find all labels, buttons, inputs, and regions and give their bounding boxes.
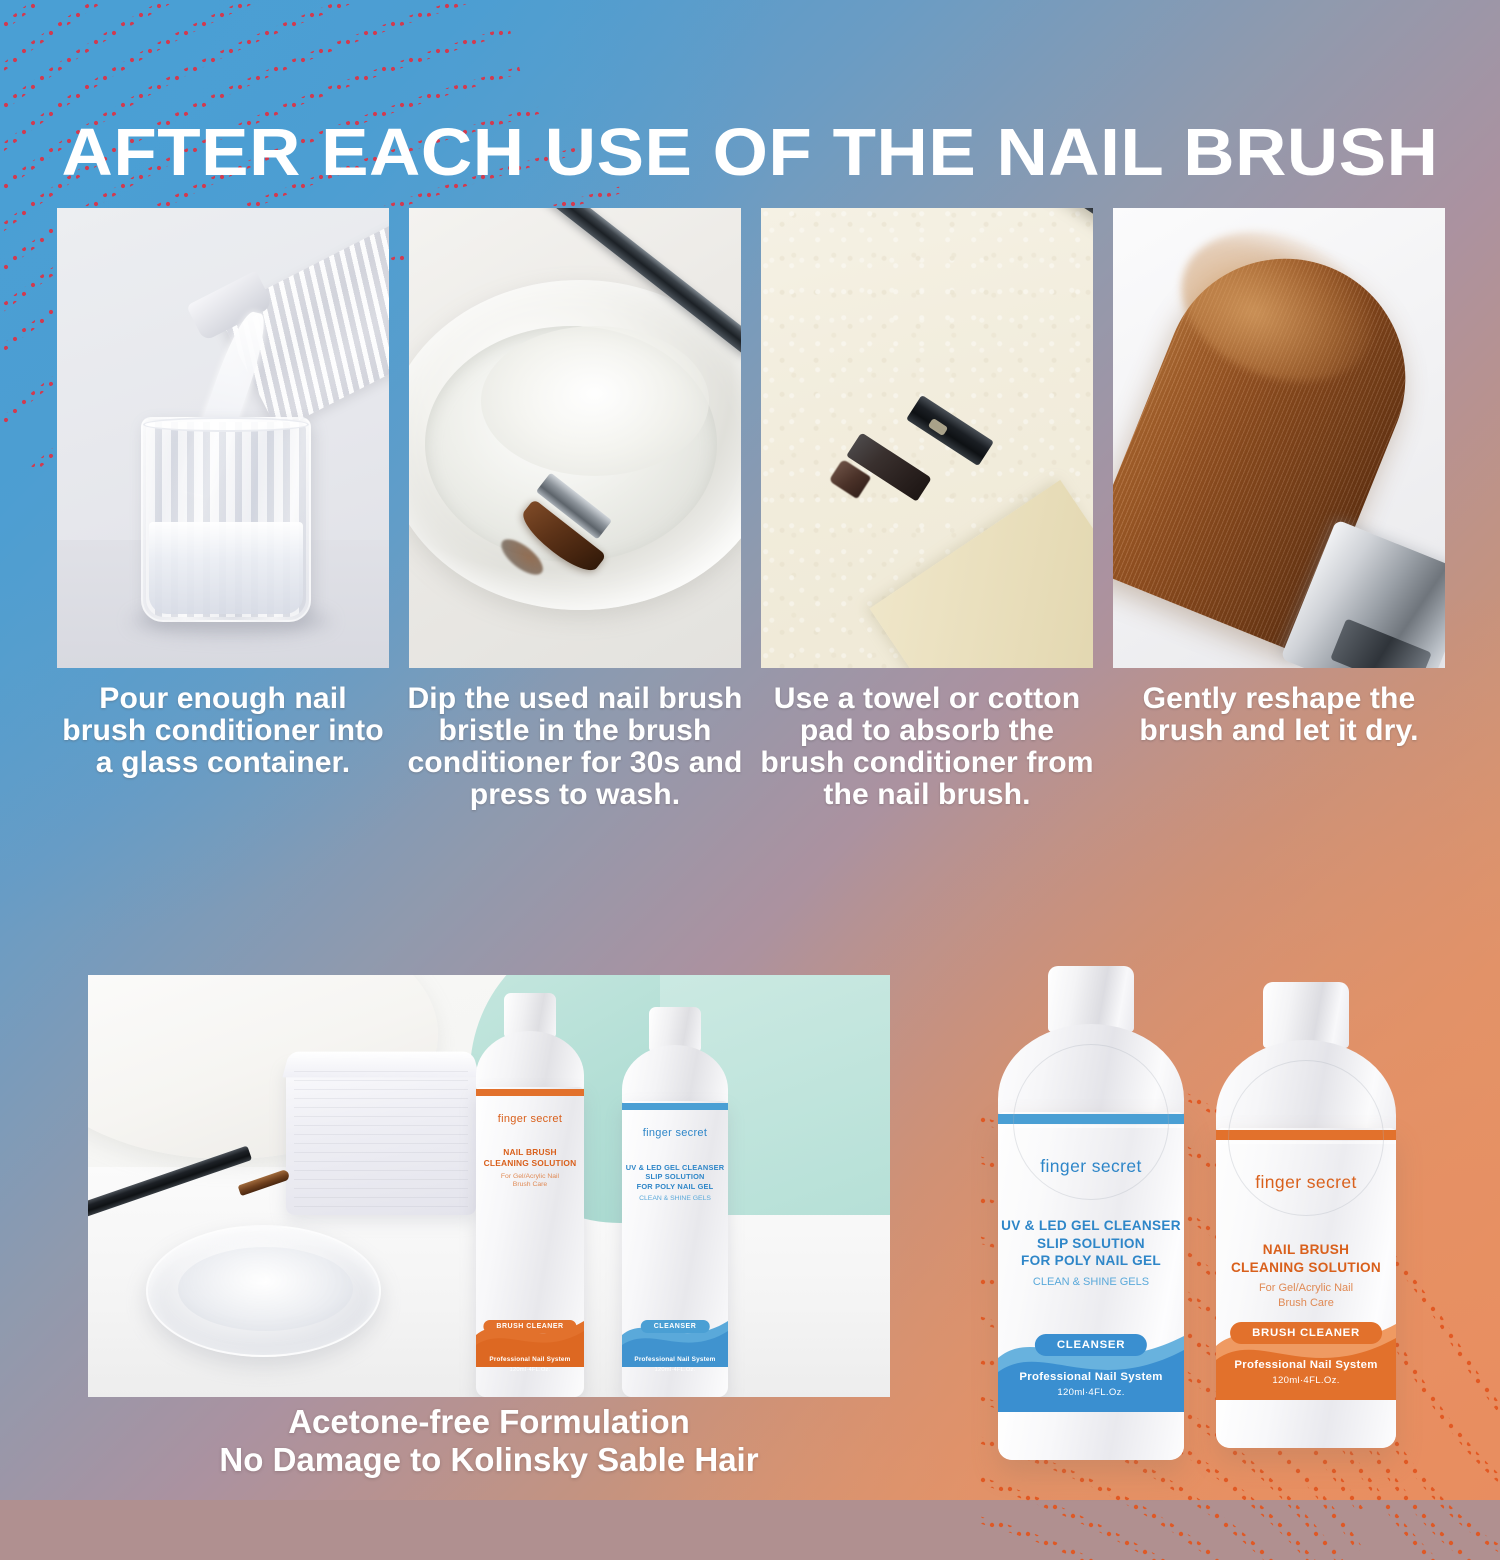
step-absorb: Use a towel or cotton pad to absorb the … [761, 208, 1093, 810]
brand-name: finger secret [476, 1113, 584, 1125]
lifestyle-product-photo: finger secret NAIL BRUSH CLEANING SOLUTI… [88, 975, 890, 1397]
tagline-line2: No Damage to Kolinsky Sable Hair [88, 1441, 890, 1479]
mini-bottle-gel-cleanser: finger secret UV & LED GEL CLEANSER SLIP… [622, 1007, 728, 1397]
bottle-accent-stripe [622, 1103, 728, 1110]
step-photo-dip [409, 208, 741, 668]
brand-name: finger secret [998, 1156, 1184, 1177]
step-caption: Dip the used nail brush bristle in the b… [406, 683, 745, 810]
step-photo-reshape [1113, 208, 1445, 668]
step-pour: Pour enough nail brush conditioner into … [57, 208, 389, 810]
product-subtitle-line1: CLEAN & SHINE GELS [998, 1275, 1184, 1290]
product-subtitle-line1: For Gel/Acrylic Nail [476, 1173, 584, 1182]
footer-line1: Professional Nail System [1216, 1359, 1396, 1371]
mini-bottle-brush-cleaner: finger secret NAIL BRUSH CLEANING SOLUTI… [476, 993, 584, 1397]
footer-line1: Professional Nail System [622, 1356, 728, 1363]
product-badge: CLEANSER [1035, 1334, 1147, 1356]
product-title-line2: CLEANING SOLUTION [476, 1158, 584, 1169]
bottle-cap [1263, 982, 1349, 1048]
product-subtitle-line2: Brush Care [1216, 1296, 1396, 1311]
step-caption: Pour enough nail brush conditioner into … [54, 683, 393, 779]
product-badge: CLEANSER [641, 1320, 710, 1333]
step-caption: Gently reshape the brush and let it dry. [1110, 683, 1449, 747]
bottle-accent-stripe [476, 1089, 584, 1096]
product-title-line1: UV & LED GEL CLEANSER [622, 1163, 728, 1172]
product-bottle-gel-cleanser: finger secret UV & LED GEL CLEANSER SLIP… [998, 966, 1184, 1460]
product-subtitle-line2: Brush Care [476, 1181, 584, 1190]
product-title-line2: SLIP SOLUTION [622, 1172, 728, 1181]
glass-bowl [146, 1225, 381, 1357]
product-title-line2: CLEANING SOLUTION [1216, 1259, 1396, 1277]
bottle-label: finger secret NAIL BRUSH CLEANING SOLUTI… [1216, 1146, 1396, 1310]
glass-bowl-liquid [178, 1247, 353, 1331]
bottle-shoulder [622, 1045, 728, 1107]
step-reshape: Gently reshape the brush and let it dry. [1113, 208, 1445, 810]
step-photo-pour [57, 208, 389, 668]
footer-line1: Professional Nail System [998, 1371, 1184, 1383]
product-title-line2: SLIP SOLUTION [998, 1235, 1184, 1253]
product-title-line3: FOR POLY NAIL GEL [622, 1182, 728, 1191]
steps-grid: Pour enough nail brush conditioner into … [57, 208, 1445, 810]
glass-rim [143, 417, 309, 432]
step-photo-absorb [761, 208, 1093, 668]
footer-line2: 120ml·4FL.Oz. [622, 1367, 728, 1373]
product-subtitle-line1: For Gel/Acrylic Nail [1216, 1281, 1396, 1296]
bottle-label: finger secret UV & LED GEL CLEANSER SLIP… [622, 1111, 728, 1204]
product-title-line1: UV & LED GEL CLEANSER [998, 1217, 1184, 1235]
footer-line2: 120ml·4FL.Oz. [476, 1367, 584, 1373]
product-badge: BRUSH CLEANER [483, 1320, 576, 1333]
product-subtitle-line1: CLEAN & SHINE GELS [622, 1195, 728, 1204]
bottle-footer: Professional Nail System 120ml·4FL.Oz. [998, 1371, 1184, 1398]
tagline: Acetone-free Formulation No Damage to Ko… [88, 1403, 890, 1478]
product-title-line1: NAIL BRUSH [476, 1147, 584, 1158]
footer-line2: 120ml·4FL.Oz. [1216, 1375, 1396, 1386]
footer-line2: 120ml·4FL.Oz. [998, 1387, 1184, 1398]
product-title-line1: NAIL BRUSH [1216, 1241, 1396, 1259]
product-bottle-brush-cleaner: finger secret NAIL BRUSH CLEANING SOLUTI… [1216, 982, 1396, 1448]
cotton-pad-texture [294, 1071, 468, 1207]
brand-name: finger secret [622, 1127, 728, 1139]
step-dip: Dip the used nail brush bristle in the b… [409, 208, 741, 810]
glass-dappen-dish [141, 417, 311, 622]
bottle-cap [1048, 966, 1134, 1032]
bottle-label: finger secret NAIL BRUSH CLEANING SOLUTI… [476, 1097, 584, 1190]
tagline-line1: Acetone-free Formulation [88, 1403, 890, 1441]
bottle-label: finger secret UV & LED GEL CLEANSER SLIP… [998, 1130, 1184, 1290]
conditioner-liquid [481, 326, 709, 476]
glass-liquid [149, 522, 303, 614]
bottle-footer: Professional Nail System 120ml·4FL.Oz. [1216, 1359, 1396, 1386]
product-title-line3: FOR POLY NAIL GEL [998, 1252, 1184, 1270]
cotton-pad-stack [286, 1063, 476, 1215]
product-badge: BRUSH CLEANER [1230, 1322, 1382, 1344]
bottle-shoulder [476, 1031, 584, 1093]
page-title: AFTER EACH USE OF THE NAIL BRUSH [0, 119, 1500, 186]
footer-line1: Professional Nail System [476, 1356, 584, 1363]
brand-name: finger secret [1216, 1172, 1396, 1193]
step-caption: Use a towel or cotton pad to absorb the … [758, 683, 1097, 810]
